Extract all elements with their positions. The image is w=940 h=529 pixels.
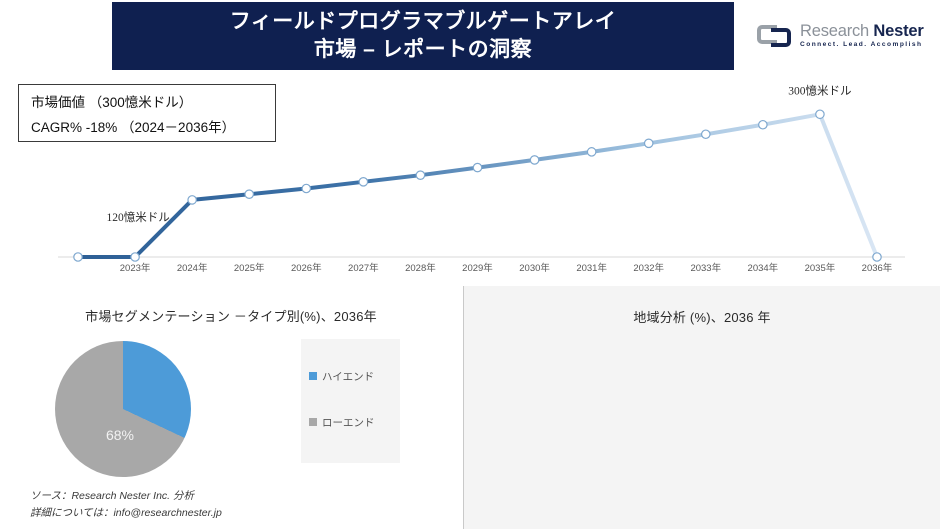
segmentation-title: 市場セグメンテーション －タイプ別(%)、2036年 (0, 286, 462, 325)
legend-label-lowend: ローエンド (322, 415, 375, 430)
line-chart-point (416, 171, 424, 179)
bottom-section: 市場セグメンテーション －タイプ別(%)、2036年 68% ハイエンド ローエ… (0, 286, 940, 529)
line-chart-point (873, 253, 881, 261)
line-chart-point (530, 156, 538, 164)
line-chart-tick-label: 2026年 (291, 262, 322, 274)
source-line: ソース：Research Nester Inc. 分析 (30, 488, 222, 505)
line-chart-point (74, 253, 82, 261)
market-value-line: 市場価値 （300憶米ドル） (31, 91, 265, 116)
pie-slice-label-lowend: 68% (85, 427, 155, 443)
logo-tagline: Connect. Lead. Accomplish (800, 42, 924, 49)
regional-panel: 地域分析 (%)、2036 年 北米ヨーロッパアジア太平洋地域ラテンアメリカ中東… (463, 286, 940, 529)
legend-swatch-lowend-icon (309, 418, 317, 426)
line-chart-tick-label: 2032年 (633, 262, 664, 274)
line-chart-point (245, 190, 253, 198)
line-chart-point (302, 184, 310, 192)
regional-title: 地域分析 (%)、2036 年 (464, 286, 940, 326)
logo-word-research: Research (800, 22, 869, 40)
line-chart-tick-labels: 2023年2024年2025年2026年2027年2028年2029年2030年… (120, 262, 893, 274)
line-chart-tick-label: 2024年 (177, 262, 208, 274)
logo-link-right-icon (771, 28, 791, 47)
line-chart-annotation: 120憶米ドル (107, 210, 170, 224)
line-chart-point (359, 178, 367, 186)
logo-text: Research Nester Connect. Lead. Accomplis… (800, 23, 924, 49)
pie-graphic (55, 341, 191, 477)
line-chart-tick-label: 2027年 (348, 262, 379, 274)
line-chart-point (759, 121, 767, 129)
logo-word-nester: Nester (873, 22, 923, 40)
line-chart-point (816, 110, 824, 118)
header-banner: フィールドプログラマブルゲートアレイ 市場 – レポートの洞察 (112, 2, 734, 70)
legend-item-lowend: ローエンド (309, 415, 400, 430)
logo-name: Research Nester (800, 23, 924, 40)
line-chart-tick-label: 2029年 (462, 262, 493, 274)
line-chart-point (702, 130, 710, 138)
brand-logo: Research Nester Connect. Lead. Accomplis… (757, 14, 929, 58)
line-chart-point (473, 163, 481, 171)
line-chart-point (645, 139, 653, 147)
line-chart-point (131, 253, 139, 261)
line-chart-tick-label: 2023年 (120, 262, 151, 274)
legend-swatch-highend-icon (309, 372, 317, 380)
line-chart-tick-label: 2025年 (234, 262, 265, 274)
cagr-line: CAGR% -18% （2024－2036年） (31, 116, 265, 141)
line-chart-tick-label: 2036年 (862, 262, 893, 274)
legend-item-highend: ハイエンド (309, 369, 400, 384)
line-chart-tick-label: 2028年 (405, 262, 436, 274)
line-chart-annotation: 300憶米ドル (788, 83, 851, 97)
market-value-callout: 市場価値 （300憶米ドル） CAGR% -18% （2024－2036年） (18, 84, 276, 142)
line-chart-tick-label: 2033年 (690, 262, 721, 274)
contact-line: 詳細については：info@researchnester.jp (30, 505, 222, 522)
logo-mark-icon (757, 23, 793, 49)
line-chart-tick-label: 2034年 (748, 262, 779, 274)
line-chart-point (587, 148, 595, 156)
page-title: フィールドプログラマブルゲートアレイ 市場 – レポートの洞察 (230, 8, 617, 63)
segmentation-legend: ハイエンド ローエンド (301, 339, 400, 463)
legend-label-highend: ハイエンド (322, 369, 374, 384)
source-footer: ソース：Research Nester Inc. 分析 詳細については：info… (30, 488, 222, 522)
segmentation-panel: 市場セグメンテーション －タイプ別(%)、2036年 68% ハイエンド ローエ… (0, 286, 462, 529)
segmentation-pie-chart: 68% (55, 341, 207, 481)
line-chart-point (188, 196, 196, 204)
line-chart-tick-label: 2030年 (519, 262, 550, 274)
line-chart-tick-label: 2031年 (576, 262, 607, 274)
line-chart-tick-label: 2035年 (805, 262, 836, 274)
